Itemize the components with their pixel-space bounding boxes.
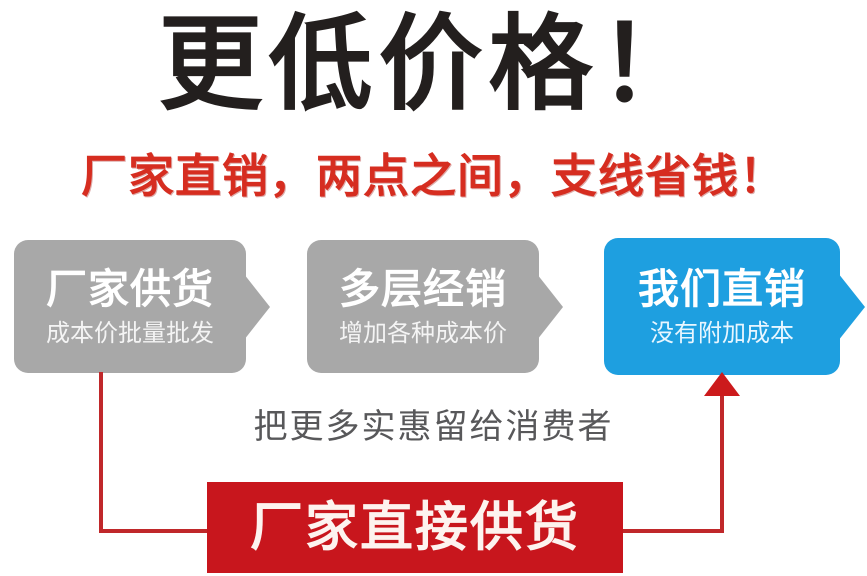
connector-line-left-vertical [99, 372, 103, 533]
promo-banner-canvas: 更低价格！ 厂家直销，两点之间，支线省钱！ 厂家供货 成本价批量批发 多层经销 … [0, 0, 867, 576]
flow-step-text: 多层经销 增加各种成本价 [307, 240, 539, 373]
flow-step-title: 多层经销 [339, 264, 507, 314]
arrow-up-icon [704, 372, 740, 396]
bottom-banner-label: 厂家直接供货 [250, 497, 580, 559]
flow-step-direct-sales-highlight: 我们直销 没有附加成本 [604, 238, 866, 375]
benefit-caption: 把更多实惠留给消费者 [0, 404, 867, 450]
chevron-right-icon [244, 274, 270, 340]
chevron-right-icon [537, 274, 563, 340]
flow-step-text: 我们直销 没有附加成本 [604, 238, 840, 375]
flow-step-text: 厂家供货 成本价批量批发 [14, 240, 246, 373]
flow-step-subtitle: 增加各种成本价 [339, 316, 507, 350]
flow-step-manufacturer-supply: 厂家供货 成本价批量批发 [14, 240, 268, 373]
chevron-right-icon [838, 273, 865, 341]
page-title: 更低价格！ [0, 4, 867, 124]
subtitle-tagline: 厂家直销，两点之间，支线省钱！ [0, 146, 867, 206]
flow-step-title: 我们直销 [638, 264, 806, 314]
connector-line-right-horizontal [608, 529, 724, 533]
flow-step-subtitle: 成本价批量批发 [46, 316, 214, 350]
connector-line-left-horizontal [99, 529, 221, 533]
flow-step-multi-level-distribution: 多层经销 增加各种成本价 [307, 240, 561, 373]
flow-step-subtitle: 没有附加成本 [650, 316, 794, 350]
flow-step-title: 厂家供货 [46, 264, 214, 314]
bottom-banner: 厂家直接供货 [207, 482, 623, 573]
